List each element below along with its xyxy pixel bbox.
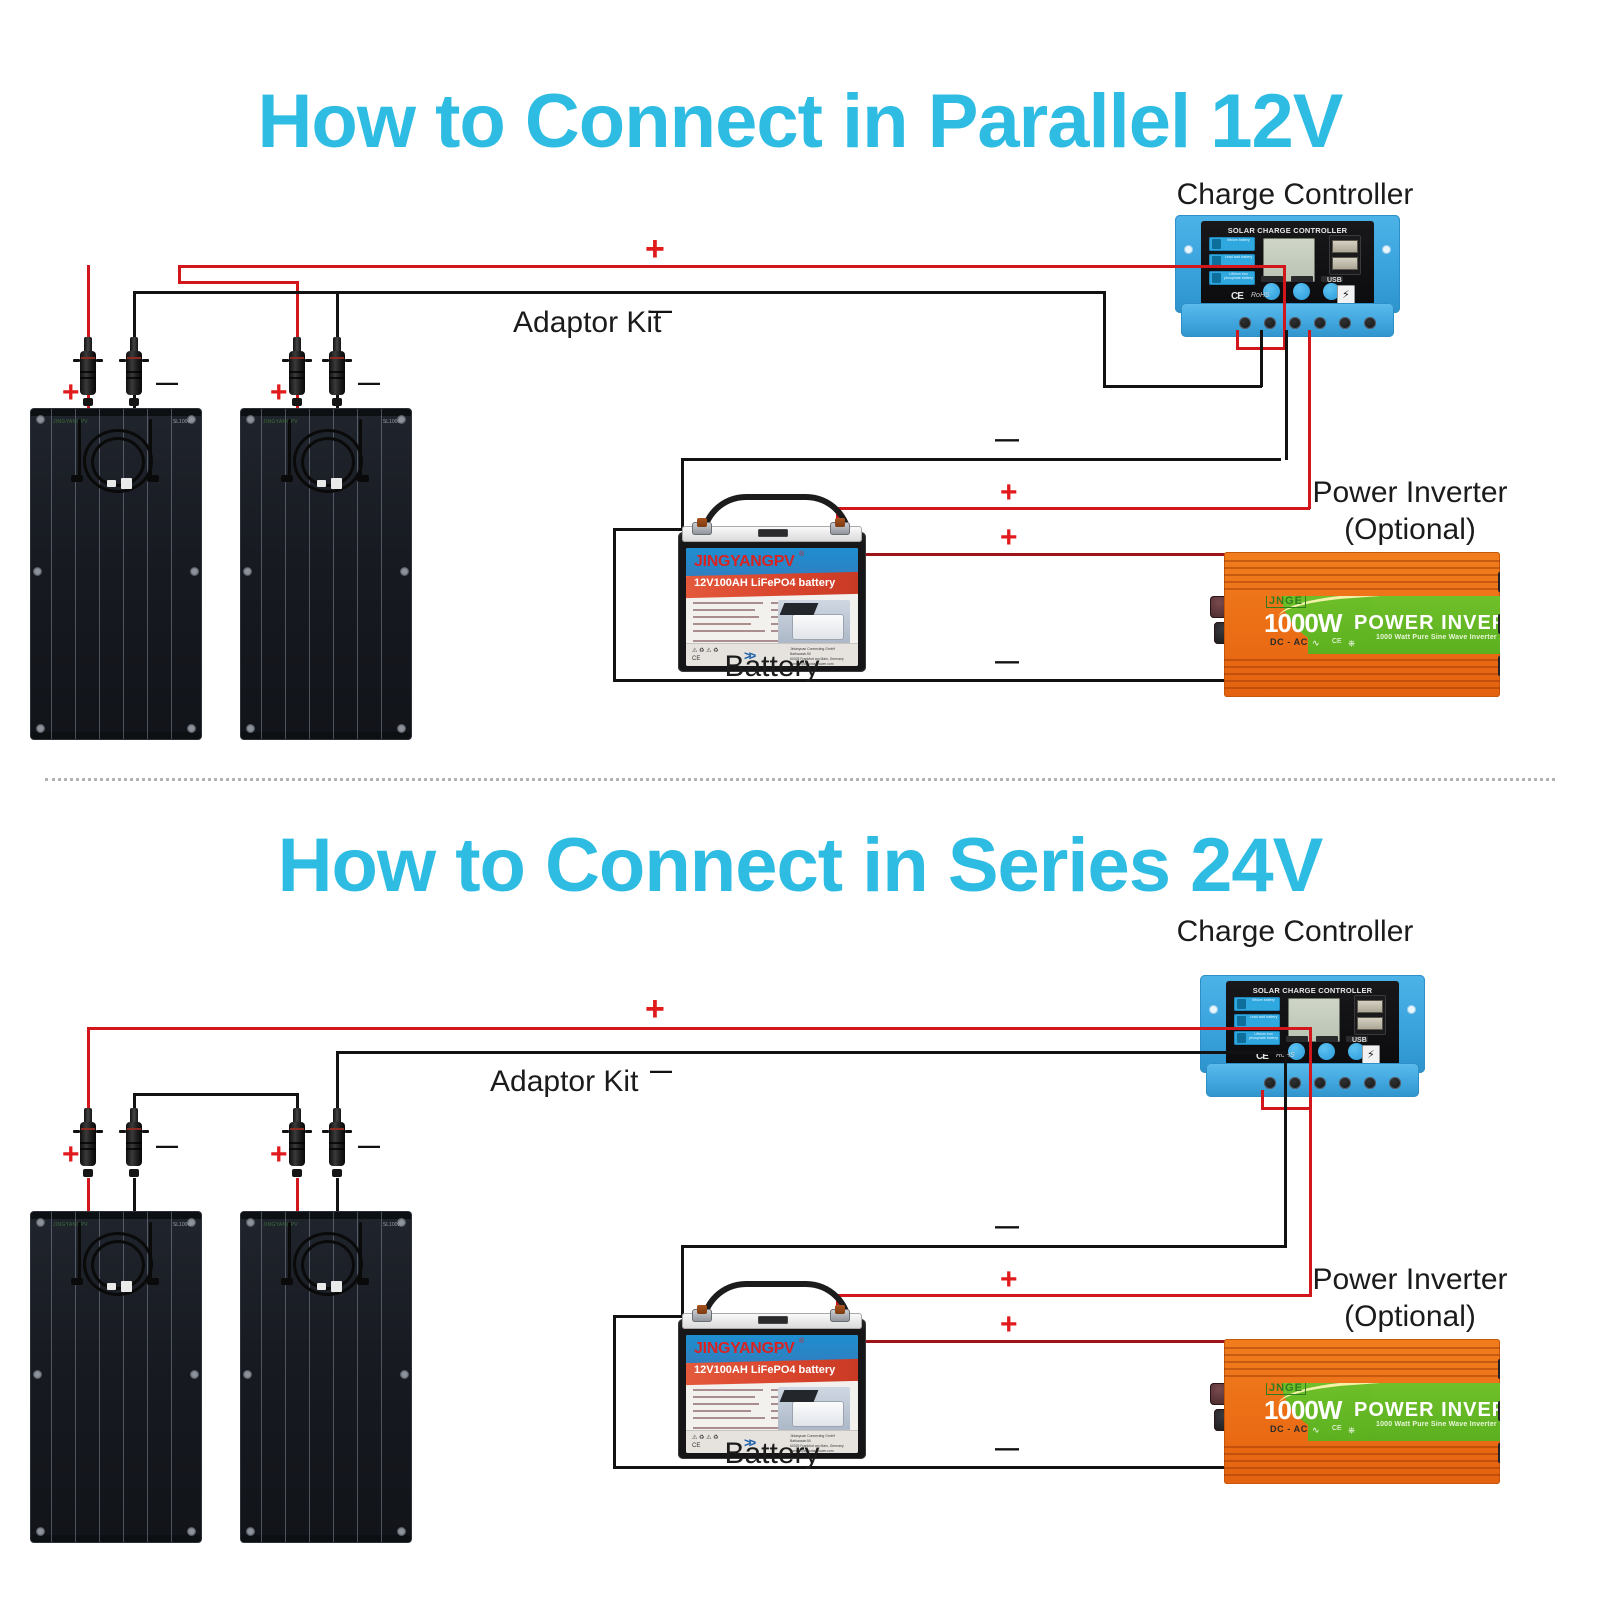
panel-grommet-ml <box>33 567 42 576</box>
usb-port-2[interactable] <box>1332 257 1358 270</box>
charge-controller-label-series: Charge Controller <box>1130 915 1460 949</box>
inverter-fin <box>1224 1361 1500 1363</box>
mc4-wing-left <box>282 359 289 362</box>
controller-mount-hole-left <box>1209 1005 1218 1014</box>
mc4-rib <box>126 1148 142 1150</box>
panel2-positive-drop-parallel <box>296 281 299 341</box>
mc4-tip <box>332 1169 342 1177</box>
battery-icon <box>1212 273 1221 283</box>
mc4-rib <box>289 1142 305 1144</box>
inverter-fin <box>1224 1446 1500 1448</box>
panel2-minus-mark-parallel: — <box>358 372 380 394</box>
controller-button-up[interactable] <box>1318 1043 1335 1060</box>
spec-line <box>693 630 765 632</box>
battery-terminal-positive[interactable] <box>830 1309 850 1322</box>
mc4-tip <box>129 1169 139 1177</box>
battery-type-lithium[interactable]: lithium battery <box>1234 997 1280 1011</box>
inverter-fin <box>1224 1453 1500 1455</box>
panel-busbar <box>171 409 172 739</box>
panel-grommet-mr <box>400 1370 409 1379</box>
section-title-series: How to Connect in Series 24V <box>0 822 1600 909</box>
inverter-label-panel: JNGE 1000W DC - AC POWER INVERTER 1000 W… <box>1248 1383 1500 1441</box>
mc4-tip <box>292 398 302 406</box>
panel-model-code: SL100w <box>173 419 191 425</box>
mc4-wing-right <box>96 359 103 362</box>
panel-cable-tag-1 <box>317 480 326 487</box>
panel-grommet-br <box>397 724 406 733</box>
solar-panel-1-series[interactable]: JINGYANGPV SL100w <box>30 1211 202 1543</box>
rv-body-icon <box>792 614 844 640</box>
button-cap-menu <box>1286 1036 1308 1042</box>
array-negative-terminal-riser-parallel <box>1260 330 1263 387</box>
spec-line <box>693 609 755 611</box>
mc4-red-stripe <box>81 1128 95 1130</box>
panel1-positive-lead-series <box>87 1178 90 1213</box>
terminal-screw-5[interactable] <box>1364 1077 1376 1089</box>
string-positive-terminal-riser-series <box>1261 1090 1264 1110</box>
panel-cable-tag-2 <box>331 478 342 489</box>
controller-battery-plus-mark-parallel: + <box>1000 478 1018 508</box>
array-positive-wire-parallel <box>178 265 1286 268</box>
panel-grommet-bl <box>246 1527 255 1536</box>
terminal-screw-5[interactable] <box>1339 317 1351 329</box>
panel-cable-coil-inner <box>91 1240 145 1290</box>
terminal-bolt <box>835 518 845 527</box>
panel-busbar <box>75 1212 76 1542</box>
mc4-red-stripe <box>127 1128 141 1130</box>
panel2-positive-jumper-parallel <box>178 281 298 284</box>
panel-cable-endcap-right <box>147 1278 159 1285</box>
panel-cable-endcap-right <box>357 475 369 482</box>
inverter-subtitle: 1000 Watt Pure Sine Wave Inverter <box>1376 634 1497 641</box>
inverter-fin <box>1224 574 1500 576</box>
array-plus-mark-parallel: + <box>645 232 665 266</box>
terminal-screw-4[interactable] <box>1339 1077 1351 1089</box>
panel-cable-right <box>149 419 152 481</box>
panel-cable-endcap-left <box>71 475 83 482</box>
inverter-side-vent <box>1498 656 1500 676</box>
battery-negative-inverter-riser-parallel <box>613 528 616 682</box>
usb-port-block[interactable] <box>1329 235 1361 275</box>
panel-grommet-ml <box>33 1370 42 1379</box>
panel-cable-tag-2 <box>121 478 132 489</box>
panel1-minus-mark-parallel: — <box>156 372 178 394</box>
panel-grommet-bl <box>246 724 255 733</box>
terminal-screw-2[interactable] <box>1289 1077 1301 1089</box>
inverter-fin <box>1224 581 1500 583</box>
battery-registered-mark: ® <box>799 1338 804 1345</box>
battery-positive-to-controller-parallel <box>836 507 1310 510</box>
mc4-red-stripe <box>290 1128 304 1130</box>
controller-mount-hole-right <box>1382 245 1391 254</box>
battery-brand: JINGYANGPV <box>694 553 794 571</box>
series-jumper-wire <box>133 1093 299 1096</box>
terminal-screw-1[interactable] <box>1239 317 1251 329</box>
battery-terminal-negative[interactable] <box>692 1309 712 1322</box>
rv-panel-icon <box>780 1390 819 1402</box>
inverter-body: JNGE 1000W DC - AC POWER INVERTER 1000 W… <box>1224 552 1500 697</box>
panel-busbar <box>51 1212 52 1542</box>
battery-model: 12V100AH LiFePO4 battery <box>694 1364 835 1376</box>
terminal-bolt <box>697 1305 707 1314</box>
mc4-tip <box>292 1169 302 1177</box>
adaptor-kit-label-series: Adaptor Kit <box>490 1065 638 1099</box>
array-plus-mark-series: + <box>645 992 665 1026</box>
inverter-side-vent <box>1498 614 1500 634</box>
panel-cable-endcap-left <box>281 475 293 482</box>
mc4-rib <box>80 371 96 373</box>
battery-icon <box>1237 999 1246 1009</box>
panel-cable-endcap-left <box>71 1278 83 1285</box>
spec-line <box>693 602 763 604</box>
solar-panel-2-parallel[interactable]: JINGYANGPV SL100w <box>240 408 412 740</box>
spec-line <box>693 616 759 618</box>
battery-type-lifepo4[interactable]: Lithium iron phosphate battery <box>1209 271 1255 285</box>
battery-label: JINGYANGPV ® 12V100AH LiFePO4 battery ⚠ … <box>686 1335 858 1453</box>
inverter-side-vent <box>1498 1401 1500 1421</box>
mc4-connector-panel1-positive-series[interactable] <box>77 1108 99 1172</box>
mc4-connector-panel1-negative-parallel[interactable] <box>123 337 145 401</box>
sine-wave-icon: ∿ <box>1312 1425 1320 1436</box>
inverter-fin <box>1224 1467 1500 1469</box>
inverter-subtitle: 1000 Watt Pure Sine Wave Inverter <box>1376 1421 1497 1428</box>
terminal-screw-3[interactable] <box>1289 317 1301 329</box>
controller-battery-negative-drop-parallel <box>1285 330 1288 460</box>
inverter-minus-mark-series: — <box>995 1437 1019 1461</box>
inverter-fin <box>1224 567 1500 569</box>
adaptor-kit-minus-mark-series: — <box>650 1060 672 1082</box>
solar-panel-1-parallel[interactable]: JINGYANGPV SL100w <box>30 408 202 740</box>
panel-grommet-mr <box>400 567 409 576</box>
ce-mark-icon: CE <box>1332 1425 1342 1432</box>
usb-port-2[interactable] <box>1357 1017 1383 1030</box>
inverter-body: JNGE 1000W DC - AC POWER INVERTER 1000 W… <box>1224 1339 1500 1484</box>
array-negative-wire-parallel <box>133 291 1105 294</box>
mc4-wing-left <box>322 1130 329 1133</box>
mc4-rib <box>80 1148 96 1150</box>
mc4-wing-left <box>73 359 80 362</box>
inverter-fin <box>1224 659 1500 661</box>
panel-edge-top <box>31 1212 201 1219</box>
battery-type-lithium[interactable]: lithium battery <box>1209 237 1255 251</box>
panel-cable-tag-1 <box>107 480 116 487</box>
terminal-bolt <box>835 1305 845 1314</box>
panel-cable-left <box>78 419 81 481</box>
battery-icon <box>1212 239 1221 249</box>
array-negative-drop-parallel <box>1103 291 1106 387</box>
usb-port-1[interactable] <box>1332 240 1358 253</box>
panel-grommet-br <box>397 1527 406 1536</box>
mc4-rib <box>80 1142 96 1144</box>
inverter-fin <box>1224 666 1500 668</box>
controller-faceplate: SOLAR CHARGE CONTROLLER lithium battery … <box>1201 221 1374 305</box>
inverter-brand: JNGE <box>1266 596 1306 608</box>
controller-title: SOLAR CHARGE CONTROLLER <box>1201 226 1374 235</box>
panel1-minus-mark-series: — <box>156 1135 178 1157</box>
spec-line <box>693 1410 751 1412</box>
power-inverter-label-series: Power Inverter (Optional) <box>1245 1262 1575 1335</box>
terminal-screw-6[interactable] <box>1364 317 1376 329</box>
inverter-fin <box>1224 673 1500 675</box>
panel-logo-icon: JINGYANGPV <box>53 419 88 425</box>
spec-line <box>693 1417 765 1419</box>
panel-edge-bottom <box>241 732 411 739</box>
panel-cable-coil-inner <box>301 437 355 487</box>
string-positive-wire-series <box>87 1027 1312 1030</box>
inverter-fin <box>1224 1474 1500 1476</box>
inverter-fin <box>1224 1375 1500 1377</box>
panel-cable-endcap-right <box>357 1278 369 1285</box>
usb-label: USB <box>1352 1037 1367 1044</box>
panel-grommet-mr <box>190 1370 199 1379</box>
inverter-fin <box>1224 588 1500 590</box>
inverter-fin <box>1224 1347 1500 1349</box>
mc4-tip <box>332 398 342 406</box>
mc4-rib <box>289 1148 305 1150</box>
battery-positive-to-controller-series <box>836 1294 1311 1297</box>
ce-mark-icon: CE <box>1231 291 1243 302</box>
sine-wave-icon: ∿ <box>1312 638 1320 649</box>
battery-top-slot <box>758 529 788 537</box>
panel1-negative-riser-parallel <box>133 291 136 339</box>
panel-cable-tag-1 <box>317 1283 326 1290</box>
panel2-plus-mark-parallel: + <box>270 378 288 408</box>
mc4-rib <box>289 377 305 379</box>
controller-terminal-base <box>1206 1063 1419 1097</box>
panel-busbar <box>381 1212 382 1542</box>
panel-logo-icon: JINGYANGPV <box>263 419 298 425</box>
charge-controller-device-series[interactable]: SOLAR CHARGE CONTROLLER lithium battery … <box>1200 975 1425 1100</box>
panel-cable-left <box>288 419 291 481</box>
inverter-dcac-label: DC - AC <box>1270 1424 1308 1434</box>
panel1-positive-riser-parallel <box>87 265 90 340</box>
panel2-positive-lead-series <box>296 1178 299 1213</box>
inverter-fin <box>1224 1460 1500 1462</box>
power-inverter-label-line1: Power Inverter <box>1245 475 1575 512</box>
terminal-screw-6[interactable] <box>1389 1077 1401 1089</box>
inverter-fin <box>1224 687 1500 689</box>
solar-panel-2-series[interactable]: JINGYANGPV SL100w <box>240 1211 412 1543</box>
inverter-side-vent <box>1498 572 1500 592</box>
mc4-rib <box>329 377 345 379</box>
mc4-rib <box>126 371 142 373</box>
mc4-wing-left <box>119 1130 126 1133</box>
adaptor-kit-label-parallel: Adaptor Kit <box>513 306 661 340</box>
controller-mount-hole-left <box>1184 245 1193 254</box>
bolt-glyph: ⚡ <box>1367 1050 1375 1061</box>
inverter-brand: JNGE <box>1266 1383 1306 1395</box>
inverter-label-panel: JNGE 1000W DC - AC POWER INVERTER 1000 W… <box>1248 596 1500 654</box>
battery-type-lead-acid[interactable]: Lead acid battery <box>1234 1014 1280 1028</box>
panel1-negative-lead-series <box>133 1178 136 1213</box>
usb-port-block[interactable] <box>1354 995 1386 1035</box>
panel-busbar <box>75 409 76 739</box>
battery-rv-illustration <box>778 1387 850 1433</box>
panel-edge-bottom <box>241 1535 411 1542</box>
power-inverter-label-line2: (Optional) <box>1245 512 1575 549</box>
mc4-red-stripe <box>127 357 141 359</box>
panel-busbar <box>381 409 382 739</box>
mc4-red-stripe <box>330 357 344 359</box>
usb-port-1[interactable] <box>1357 1000 1383 1013</box>
controller-title: SOLAR CHARGE CONTROLLER <box>1226 986 1399 995</box>
panel-cable-endcap-right <box>147 475 159 482</box>
inverter-fin <box>1224 680 1500 682</box>
panel-grommet-br <box>187 1527 196 1536</box>
panel-grommet-bl <box>36 1527 45 1536</box>
mc4-red-stripe <box>81 357 95 359</box>
panel-model-code: SL100w <box>173 1222 191 1228</box>
charge-controller-device-parallel[interactable]: SOLAR CHARGE CONTROLLER lithium battery … <box>1175 215 1400 340</box>
battery-positive-to-inverter-parallel <box>852 553 1252 556</box>
panel-cable-endcap-left <box>281 1278 293 1285</box>
panel-grommet-tl <box>36 415 45 424</box>
mc4-connector-panel1-positive-parallel[interactable] <box>77 337 99 401</box>
controller-battery-plus-mark-series: + <box>1000 1265 1018 1295</box>
battery-label: JINGYANGPV ® 12V100AH LiFePO4 battery ⚠ … <box>686 548 858 666</box>
terminal-bolt <box>697 518 707 527</box>
panel-grommet-br <box>187 724 196 733</box>
rv-panel-icon <box>780 603 819 615</box>
power-inverter-label-line2: (Optional) <box>1245 1299 1575 1336</box>
battery-terminal-negative[interactable] <box>692 522 712 535</box>
mc4-tip <box>129 398 139 406</box>
mc4-connector-panel2-positive-parallel[interactable] <box>286 337 308 401</box>
battery-negative-inverter-riser-series <box>613 1315 616 1469</box>
button-cap-up <box>1316 1036 1338 1042</box>
mc4-wing-right <box>345 359 352 362</box>
panel-busbar <box>51 409 52 739</box>
mc4-tip <box>83 398 93 406</box>
battery-model: 12V100AH LiFePO4 battery <box>694 577 835 589</box>
panel-edge-bottom <box>31 732 201 739</box>
rohs-mark-icon: RoHS <box>1251 292 1270 299</box>
mc4-connector-panel1-negative-series[interactable] <box>123 1108 145 1172</box>
mc4-wing-left <box>322 359 329 362</box>
panel-cable-coil-inner <box>91 437 145 487</box>
panel-edge-top <box>31 409 201 416</box>
mc4-connector-panel2-negative-series[interactable] <box>326 1108 348 1172</box>
terminal-screw-4[interactable] <box>1314 317 1326 329</box>
power-icon: ⎈ <box>1348 638 1355 649</box>
panel-grommet-tl <box>36 1218 45 1227</box>
panel-cable-left <box>288 1222 291 1284</box>
panel-cable-coil-inner <box>301 1240 355 1290</box>
controller-battery-negative-drop-series <box>1284 1090 1287 1248</box>
panel-edge-bottom <box>31 1535 201 1542</box>
terminal-screw-2[interactable] <box>1264 317 1276 329</box>
mc4-rib <box>80 377 96 379</box>
mc4-wing-right <box>345 1130 352 1133</box>
panel2-plus-mark-series: + <box>270 1140 288 1170</box>
spec-line <box>693 1389 763 1391</box>
battery-rv-illustration <box>778 600 850 646</box>
power-icon: ⎈ <box>1348 1425 1355 1436</box>
string-negative-drop-series <box>1284 1051 1287 1090</box>
mc4-connector-panel2-negative-parallel[interactable] <box>326 337 348 401</box>
spec-line <box>693 1403 759 1405</box>
inverter-fin <box>1224 1354 1500 1356</box>
panel-model-code: SL100w <box>383 419 401 425</box>
panel-cable-left <box>78 1222 81 1284</box>
section-divider <box>45 778 1555 781</box>
array-negative-to-terminal-parallel <box>1103 385 1262 388</box>
battery-positive-to-inverter-series <box>852 1340 1252 1343</box>
panel-busbar <box>285 409 286 739</box>
terminal-screw-1[interactable] <box>1264 1077 1276 1089</box>
panel-cable-tag-2 <box>331 1281 342 1292</box>
mc4-rib <box>126 377 142 379</box>
power-inverter-label-parallel: Power Inverter (Optional) <box>1245 475 1575 548</box>
mc4-tip <box>83 1169 93 1177</box>
panel-busbar <box>261 409 262 739</box>
panel-grommet-bl <box>36 724 45 733</box>
battery-top-slot <box>758 1316 788 1324</box>
controller-battery-minus-mark-series: — <box>995 1215 1019 1239</box>
panel-logo-icon: JINGYANGPV <box>53 1222 88 1228</box>
battery-brand: JINGYANGPV <box>694 1340 794 1358</box>
battery-terminal-positive[interactable] <box>830 522 850 535</box>
mc4-wing-right <box>305 1130 312 1133</box>
usb-label: USB <box>1327 277 1342 284</box>
mc4-wing-right <box>142 1130 149 1133</box>
panel-busbar <box>261 1212 262 1542</box>
battery-type-lifepo4[interactable]: Lithium iron phosphate battery <box>1234 1031 1280 1045</box>
mc4-wing-right <box>142 359 149 362</box>
panel2-minus-mark-series: — <box>358 1135 380 1157</box>
mc4-connector-panel2-positive-series[interactable] <box>286 1108 308 1172</box>
battery-label-parallel: Battery <box>672 650 872 684</box>
inverter-plus-mark-parallel: + <box>1000 523 1018 553</box>
panel-cable-right <box>149 1222 152 1284</box>
inverter-name: POWER INVERTER <box>1354 612 1500 635</box>
power-inverter-device-parallel[interactable]: JNGE 1000W DC - AC POWER INVERTER 1000 W… <box>1210 552 1500 697</box>
panel-cable-right <box>359 1222 362 1284</box>
adaptor-kit-minus-mark-parallel: — <box>650 300 672 322</box>
inverter-wattage: 1000W <box>1264 1397 1341 1423</box>
power-inverter-device-series[interactable]: JNGE 1000W DC - AC POWER INVERTER 1000 W… <box>1210 1339 1500 1484</box>
mc4-rib <box>329 1148 345 1150</box>
inverter-fin <box>1224 1368 1500 1370</box>
panel2-negative-riser-parallel <box>336 291 339 339</box>
panel-grommet-tl <box>246 1218 255 1227</box>
inverter-name: POWER INVERTER <box>1354 1399 1500 1422</box>
mc4-wing-left <box>119 359 126 362</box>
button-cap-menu <box>1261 276 1283 282</box>
panel-grommet-tl <box>246 415 255 424</box>
terminal-screw-3[interactable] <box>1314 1077 1326 1089</box>
mc4-rib <box>126 1142 142 1144</box>
rv-body-icon <box>792 1401 844 1427</box>
battery-negative-to-controller-series <box>681 1245 1286 1248</box>
mc4-wing-left <box>282 1130 289 1133</box>
panel-model-code: SL100w <box>383 1222 401 1228</box>
inverter-side-vent <box>1498 1359 1500 1379</box>
panel-grommet-mr <box>190 567 199 576</box>
mc4-red-stripe <box>290 357 304 359</box>
panel-grommet-ml <box>243 567 252 576</box>
inverter-plus-mark-series: + <box>1000 1310 1018 1340</box>
charge-controller-label-parallel: Charge Controller <box>1130 178 1460 212</box>
mc4-red-stripe <box>330 1128 344 1130</box>
inverter-minus-mark-parallel: — <box>995 650 1019 674</box>
panel-edge-top <box>241 409 411 416</box>
mc4-rib <box>289 371 305 373</box>
controller-button-up[interactable] <box>1293 283 1310 300</box>
power-inverter-label-line1: Power Inverter <box>1245 1262 1575 1299</box>
battery-negative-to-controller-parallel <box>681 458 1281 461</box>
battery-registered-mark: ® <box>799 551 804 558</box>
